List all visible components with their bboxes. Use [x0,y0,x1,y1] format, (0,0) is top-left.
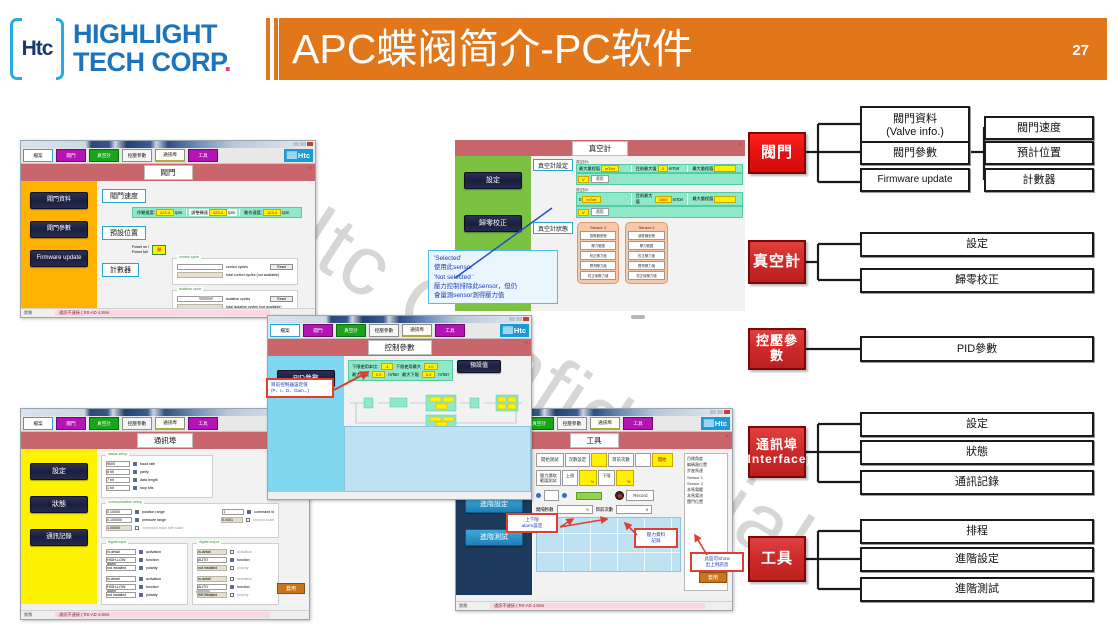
minimize-icon[interactable] [710,410,716,414]
control-cycle-legend: control cycle [177,255,201,259]
minimize-icon[interactable] [293,142,299,146]
speed-field-2: 調整轉速123.4rpm [189,209,237,216]
sensor-1-row-1: 壓力範圍 [580,241,616,250]
tool-header-label: 工具 [570,433,619,448]
control-cycle-label: control cycles [226,265,248,269]
pid-callout-arrow [330,368,380,398]
comm-row: 1 bitstop bits [106,485,208,491]
tree-child-tool-advanced-test[interactable]: 進階測試 [860,577,1094,602]
tree-root-interface-sublabel: (Interface) [743,453,812,467]
comm-row: 9600baud rate [106,461,208,467]
speed-value-2[interactable]: 123.4 [209,209,227,216]
slide-header: Htc HIGHLIGHT TECH CORP. APC蝶阀简介-PC软件 27 [0,0,1117,98]
tool-control-row: Record [536,490,681,501]
panel-close-icon[interactable]: ✕ [309,165,312,170]
gauge1-field-1: 最大量程值mTorr [577,165,629,172]
toolbar-item-tool[interactable]: 工具 [435,324,465,337]
di-activation-1-label: activation [146,550,161,554]
do-activation-2-label: activation [237,577,252,581]
record-label[interactable]: Record [626,490,654,501]
status-label: 狀態 [21,612,55,618]
di-activation-2-label: activation [146,577,161,581]
di-polarity-1[interactable]: not installed [106,565,136,571]
scroll-handle[interactable] [196,590,210,594]
control-cycle-input[interactable] [177,264,223,270]
do-polarity-2-label: polarity [237,593,249,597]
communication-setup-fieldset: communication setup 0.10000position rang… [101,503,279,538]
count-setting-label: 次數設定 [565,453,591,467]
counter-group-label: 計數器 [102,263,139,277]
gauge-setting-button[interactable]: 設定 [464,172,522,189]
comm-apply-button[interactable]: 套用 [277,583,305,594]
do-activation-2-checkbox[interactable] [230,577,234,581]
window-titlebar[interactable] [268,316,531,323]
total-control-cycle-label: total control cycles (not available) [226,273,279,277]
tool-callout-arrows [485,505,755,590]
brand-badge: Htc [500,324,529,337]
second-scale-input: 0.0001 [221,517,243,523]
divider [239,209,240,216]
sensor-2-row-2: 校正壓力值 [628,251,664,260]
pid-field-value-1[interactable]: -1 [381,363,393,370]
toolbar-item-gauge[interactable]: 真空計 [89,417,119,430]
parity-label: parity [140,470,149,474]
di-function-1-checkbox[interactable] [139,558,143,562]
tree-root-tool[interactable]: 工具 [748,536,806,582]
di-row: not installedpolarity [106,565,183,571]
brand-badge: Htc [284,149,313,162]
baud-scale-input: 1.00000 [106,525,132,531]
valve-speed-row: 作動速度:123.4rpm 調整轉速123.4rpm 動作速度:123.4rpm [132,207,302,218]
power-default-label: Power on / Power fail [132,245,149,254]
tree-root-interface[interactable]: 通訊埠 (Interface) [748,426,806,478]
toolbar-item-pid[interactable]: 控壓參數 [557,417,587,430]
pid-chart-area [344,426,531,492]
do-function-1-checkbox[interactable] [230,558,234,562]
di-row: not installedpolarity [106,592,183,598]
stop-bits-input[interactable]: 1 bit [106,485,130,491]
scroll-handle[interactable] [199,296,213,300]
speed-field-1: 作動速度:123.4rpm [135,209,184,216]
do-polarity-1-checkbox[interactable] [230,566,234,570]
digital-io-row: digital input in-detailactivation HIGH-L… [101,538,305,605]
tool-test-row-1: 開始測試 次數設定 目前次數 開始 [536,453,681,467]
baud-scale-label: command baud rate scale [142,526,183,530]
sensor-2-card: Sensor 2 感應器型號 壓力範圍 校正壓力值 實測壓力值 校正後壓力值 [625,222,667,284]
status-value: 通訊不連接 ( RS-AD 4.8ms [490,603,705,609]
title-rule-bars [265,18,279,80]
upper-limit-input[interactable]: % [579,470,597,486]
gauge2-fields: 0mTorr 目前最大值1000mTorr 最大量程值 [576,192,743,206]
baud-rate-input[interactable]: 9600 [106,461,130,467]
di-polarity-2[interactable]: not installed [106,592,136,598]
do-activation-2: in-detail [197,576,227,582]
toolbar-item-comm[interactable]: 通訊埠 [590,417,620,430]
comm-header-label: 通訊埠 [137,433,194,448]
window-body: 閥門資料 閥門參數 Firmware update 閥門速度 作動速度:123.… [21,181,315,310]
comm-row: 0.10000position range1command id [106,509,274,515]
comm-status-button[interactable]: 狀態 [30,496,88,513]
pid-header-label: 控制參數 [368,340,432,355]
window-controls[interactable] [509,317,529,321]
pid-setpoint-callout: 目前控制器設定值 (P、I、D、Gain...) [266,378,334,398]
power-default-value[interactable]: 開 [152,245,166,255]
tree-child-interface-log[interactable]: 通訊記錄 [860,470,1094,495]
window-statusbar: 狀態 通訊不連接 ( RS-AD 4.8ms [456,601,732,610]
valve-info-button[interactable]: 閥門資料 [30,192,88,209]
maximize-icon[interactable] [717,410,723,414]
digital-input-fieldset: digital input in-detailactivation HIGH-L… [101,543,188,605]
toolbar-item-valve[interactable]: 閥門 [303,324,333,337]
baud-scale-checkbox[interactable] [135,526,139,530]
speed-field-3: 動作速度:123.4rpm [242,209,291,216]
comm-setting-button[interactable]: 設定 [30,463,88,480]
do-function-2-checkbox[interactable] [230,585,234,589]
panel-close-icon[interactable]: ✕ [739,141,742,146]
pid-field-value-2[interactable]: 1.0 [424,363,438,370]
comm-row: 8 bitparity [106,469,208,475]
company-name-line2: TECH CORP. [73,49,231,77]
toolbar-item-file[interactable]: 檔案 [270,324,300,337]
gauge-setting-group-label: 真空計設定 [533,159,573,171]
window-header-label: 閥門 [144,165,193,180]
digital-output-fieldset: digital output in-detailactivation AUTOf… [192,543,279,605]
do-polarity-1: not installed [197,565,227,571]
divider [631,165,632,172]
gauge2-value-2[interactable]: 1000 [655,196,672,203]
gauge2-apply-label[interactable]: 適用 [591,208,609,216]
di-function-1-label: function [146,558,159,562]
do-row: in-detailactivation [197,549,274,555]
window-titlebar[interactable] [21,409,309,416]
toolbar-item-pid[interactable]: 控壓參數 [122,417,152,430]
close-icon[interactable] [307,142,313,146]
parity-checkbox[interactable] [133,470,137,474]
tree-grandchild-target-position[interactable]: 預計位置 [984,141,1094,165]
comm-row: 1.00000command baud rate scale [106,525,274,531]
window-titlebar[interactable] [21,141,315,148]
do-polarity-1-label: polarity [237,566,249,570]
toolbar-item-gauge[interactable]: 真空計 [336,324,366,337]
di-polarity-1-label: polarity [146,566,158,570]
window-controls[interactable] [710,410,730,414]
di-activation-1[interactable]: in-detail [106,549,136,555]
tree-child-tool-advanced-setting[interactable]: 進階設定 [860,547,1094,572]
page-title: APC蝶阀简介-PC软件 [292,19,693,79]
maximize-icon[interactable] [516,317,522,321]
gauge1-field-3: 最大量程值 [690,165,742,172]
logo-dot: . [224,47,231,77]
upper-limit-label: 上限 [562,470,578,486]
toolbar-item-file[interactable]: 檔案 [23,417,53,430]
comm-row: 0.100000pressure range0.0001second scale [106,517,274,523]
tree-root-interface-label: 通訊埠 [756,438,798,453]
gauge1-value-2[interactable]: 0 [658,165,668,172]
toolbar-item-tool[interactable]: 工具 [188,417,218,430]
tree-child-firmware-update[interactable]: Firmware update [860,168,970,192]
gauge2-value-3[interactable] [714,196,736,203]
toolbar-item-valve[interactable]: 閥門 [56,149,86,162]
stop-bits-checkbox[interactable] [133,486,137,490]
sensor-1-card: Sensor 1 感應器型號 壓力範圍 校正壓力值 實測壓力值 校正後壓力值 [577,222,619,284]
status-value: 通訊不連接 ( RS-AD 4.8ms [55,612,270,618]
htc-logo-text: Htc [22,37,53,61]
current-count-label: 目前次數 [608,453,634,467]
pressure-range-label: pressure range [142,518,166,522]
toolbar-item-comm[interactable]: 通訊埠 [402,324,432,337]
di-row: HIGH-LOW alarmfunction [106,557,183,563]
isolation-cycle-reset-button[interactable]: Reset [270,296,293,302]
command-id-checkbox[interactable] [247,510,251,514]
limit-setting-button[interactable] [544,490,559,501]
gauge1-fields: 最大量程值mTorr 目前最大值0mTorr 最大量程值 [576,164,743,173]
do-activation-1-label: activation [237,550,252,554]
digital-output-legend: digital output [197,540,221,544]
start-button[interactable]: 開始 [652,453,673,467]
total-control-cycle-value [177,272,223,278]
sensor-1-row-0: 感應器型號 [580,231,616,240]
sensor-2-title: Sensor 2 [628,225,664,230]
sensor-2-row-3: 實測壓力值 [628,261,664,270]
menu-toolbar[interactable]: 檔案 閥門 真空計 控壓參數 通訊埠 工具 Htc [21,148,315,164]
do-row: AUTOfunction [197,557,274,563]
count-setting-input[interactable] [591,453,607,467]
tree-child-interface-setting[interactable]: 設定 [860,412,1094,437]
control-cycle-reset-button[interactable]: Reset [270,264,293,270]
status-value: 通訊不連接 ( RS-AD 4.8ms [55,310,270,316]
toolbar-item-valve[interactable]: 閥門 [56,417,86,430]
close-icon[interactable] [523,317,529,321]
gauge-header-label: 真空計 [572,141,629,156]
menu-toolbar[interactable]: 檔案 閥門 真空計 控壓參數 通訊埠 工具 Htc [21,416,309,432]
di-function-2-label: function [146,585,159,589]
baud-rate-checkbox[interactable] [133,462,137,466]
comm-row: 7 bitdata length [106,477,208,483]
tool-test-row-2: 壓力讀取 範圍測試 上限 % 下限 % [536,470,681,486]
data-length-checkbox[interactable] [133,478,137,482]
window-header: 通訊埠 ✕ [21,432,309,449]
isolation-cycle-legend: isolation cycle [177,287,203,291]
communication-setup-legend: communication setup [106,500,144,504]
gauge1-apply-row: V 適用 [576,173,743,185]
command-id-input[interactable]: 1 [222,509,244,515]
data-length-label: data length [140,478,158,482]
brand-badge: Htc [701,417,730,430]
window-statusbar: 狀態 通訊不連接 ( RS-AD 4.8ms [21,610,309,619]
sensor-1-row-4: 校正後壓力值 [580,271,616,280]
maximize-icon[interactable] [300,142,306,146]
parity-input[interactable]: 8 bit [106,469,130,475]
pid-callout-text: 目前控制器設定值 (P、I、D、Gain...) [271,382,309,393]
gauge-callout-leader [440,200,570,290]
gauge2-field-3: 最大量程值 [690,196,742,203]
gauge1-unit-1[interactable]: mTorr [601,165,619,172]
stop-bits-label: stop bits [140,486,153,490]
gauge1-value-3[interactable] [714,165,736,172]
status-bar-indicator [576,492,602,500]
tree-root-valve[interactable]: 閥門 [748,132,806,174]
lower-limit-input[interactable]: % [616,470,634,486]
pid-default-button[interactable]: 預設值 [457,360,501,373]
comm-log-button[interactable]: 通訊記錄 [30,529,88,546]
divider [687,165,688,172]
do-activation-1-checkbox[interactable] [230,550,234,554]
gauge1-field-2: 目前最大值0mTorr [634,165,686,172]
command-id-label: command id [254,510,274,514]
di-row: HIGH-LOW alarmfunction [106,584,183,590]
toolbar-item-pid[interactable]: 控壓參數 [369,324,399,337]
di-function-2[interactable]: HIGH-LOW alarm [106,584,136,590]
do-row: in-detailactivation [197,576,274,582]
tree-child-valve-params[interactable]: 閥門參數 [860,141,970,165]
comm-side-panel: 設定 狀態 通訊記錄 [21,449,97,604]
pressure-range-checkbox[interactable] [135,518,139,522]
gauge-setting-blocks: 真空計1: 最大量程值mTorr 目前最大值0mTorr 最大量程值 V 適用 [576,159,743,218]
gauge2-field-2: 目前最大值1000mTorr [634,193,686,205]
window-controls[interactable] [293,142,313,146]
menu-toolbar[interactable]: 檔案 閥門 真空計 控壓參數 通訊埠 工具 Htc [268,323,531,339]
feature-tree-diagram: 閥門 閥門資料 (Valve info.) 閥門參數 Firmware upda… [748,104,1110,624]
gauge1-apply-label[interactable]: 適用 [591,175,609,183]
status-label: 狀態 [21,310,55,316]
company-name-line1: HIGHLIGHT [73,21,231,49]
company-logo: Htc HIGHLIGHT TECH CORP. [10,18,231,80]
di-polarity-2-checkbox[interactable] [139,593,143,597]
digital-input-legend: digital input [106,540,128,544]
valve-speed-group-label: 閥門速度 [102,189,146,203]
status-setup-legend: status setup [106,452,129,456]
pid-body: PID參數 下限使用本比: -1 下限使用最大 1.0 最大上限 0.0 [268,356,531,492]
slide-canvas: Htc HIGHLIGHT TECH CORP. APC蝶阀简介-PC软件 27… [0,0,1117,628]
di-function-1[interactable]: HIGH-LOW alarm [106,557,136,563]
position-range-input[interactable]: 0.10000 [106,509,132,515]
di-function-2-checkbox[interactable] [139,585,143,589]
control-cycle-row-2: total control cycles (not available) [177,272,293,278]
toolbar-item-pid[interactable]: 控壓參數 [122,149,152,162]
tree-grandchild-counter[interactable]: 計數器 [984,168,1094,192]
position-range-checkbox[interactable] [135,510,139,514]
second-scale-label: second scale [253,518,274,522]
tree-child-pid-params[interactable]: PID參數 [860,336,1094,362]
gauge2-unit-1[interactable]: mTorr [582,196,600,203]
record-control[interactable]: Record [615,490,654,501]
toolbar-item-gauge[interactable]: 真空計 [89,149,119,162]
di-activation-2-checkbox[interactable] [139,577,143,581]
position-range-label: position range [142,510,165,514]
data-length-input[interactable]: 7 bit [106,477,130,483]
divider [631,193,632,205]
sensor-2-row-0: 感應器型號 [628,231,664,240]
page-number: 27 [1072,42,1089,59]
gauge2-apply-row: V 適用 [576,206,743,218]
toolbar-item-file[interactable]: 檔案 [23,149,53,162]
start-test-label[interactable]: 開始測試 [536,453,564,467]
tree-grandchild-valve-speed[interactable]: 閥門速度 [984,116,1094,140]
pressure-range-input[interactable]: 0.100000 [106,517,132,523]
tree-child-gauge-setting[interactable]: 設定 [860,232,1094,257]
comm-body: 設定 狀態 通訊記錄 status setup 9600baud rate 8 … [21,449,309,604]
status-label: 狀態 [456,603,490,609]
toolbar-item-comm[interactable]: 通訊埠 [155,417,185,430]
tree-root-gauge[interactable]: 真空計 [748,240,806,284]
di-row: in-detailactivation [106,576,183,582]
di-activation-2[interactable]: in-detail [106,576,136,582]
di-row: in-detailactivation [106,549,183,555]
do-function-2-label: function [237,585,250,589]
toolbar-item-tool[interactable]: 工具 [188,149,218,162]
di-activation-1-checkbox[interactable] [139,550,143,554]
do-function-1-label: function [237,558,250,562]
gauge1-apply-flag[interactable]: V [578,176,589,183]
divider [687,193,688,205]
sensor-1-row-2: 校正壓力值 [580,251,616,260]
led-indicator-right [562,493,567,498]
toolbar-item-tool[interactable]: 工具 [623,417,653,430]
valve-content: 閥門速度 作動速度:123.4rpm 調整轉速123.4rpm 動作速度:123… [97,181,315,310]
di-polarity-1-checkbox[interactable] [139,566,143,570]
speed-value-1[interactable]: 123.4 [156,209,174,216]
window-header: 控制參數 ✕ [268,339,531,356]
tree-child-interface-status[interactable]: 狀態 [860,440,1094,465]
record-icon[interactable] [615,491,624,500]
sensor-2-row-1: 壓力範圍 [628,241,664,250]
speed-value-3[interactable]: 123.4 [263,209,281,216]
pressure-range-test-label: 壓力讀取 範圍測試 [536,470,561,486]
close-icon[interactable] [724,410,730,414]
window-header: 閥門 ✕ [21,164,315,181]
baud-rate-label: baud rate [140,462,155,466]
minimize-icon[interactable] [509,317,515,321]
do-polarity-2-checkbox[interactable] [230,593,234,597]
status-setup-fieldset: status setup 9600baud rate 8 bitparity 7… [101,455,213,498]
pid-field-value-4[interactable]: 0.0 [422,371,436,378]
panel-close-icon[interactable]: ✕ [525,340,528,345]
divider [186,209,187,216]
do-activation-1: in-detail [197,549,227,555]
do-function-1[interactable]: AUTO [197,557,227,563]
control-cycle-row-1: control cycles Reset [177,264,293,270]
pid-window[interactable]: 檔案 閥門 真空計 控壓參數 通訊埠 工具 Htc 控制參數 ✕ PID參數 下… [267,315,532,500]
panel-close-icon[interactable]: ✕ [726,433,729,438]
scroll-handle[interactable] [631,315,645,319]
tree-root-pid[interactable]: 控壓參數 [748,328,806,370]
sensor-1-title: Sensor 1 [580,225,616,230]
control-cycle-fieldset: control cycle control cycles Reset total… [172,258,298,285]
sensor-2-row-4: 校正後壓力值 [628,271,664,280]
valve-window[interactable]: 檔案 閥門 真空計 控壓參數 通訊埠 工具 Htc 閥門 ✕ 閥門資料 閥門參數… [20,140,316,318]
tree-child-tool-schedule[interactable]: 排程 [860,519,1094,544]
gauge-window-header: 真空計 ✕ [455,140,745,156]
default-position-group-label: 預設位置 [102,226,146,240]
led-indicator-left [536,493,541,498]
htc-logo-mark: Htc [10,18,64,80]
isolation-cycle-row-1: isolation cycles Reset [177,296,293,302]
second-scale-checkbox[interactable] [246,518,250,522]
current-count-value [635,453,651,467]
company-name: HIGHLIGHT TECH CORP. [73,21,231,76]
tree-child-valve-info[interactable]: 閥門資料 (Valve info.) [860,106,970,145]
do-row: not installedpolarity [197,565,274,571]
toolbar-item-comm[interactable]: 通訊埠 [155,149,185,162]
firmware-update-button[interactable]: Firmware update [30,250,88,267]
sensor-cards: Sensor 1 感應器型號 壓力範圍 校正壓力值 實測壓力值 校正後壓力值 S… [577,222,668,284]
isolation-cycle-label: isolation cycles [226,297,250,301]
gauge2-apply-flag[interactable]: V [578,209,589,216]
tree-child-gauge-zero-calibration[interactable]: 歸零校正 [860,268,1094,293]
valve-side-panel: 閥門資料 閥門參數 Firmware update [21,181,97,310]
valve-params-button[interactable]: 閥門參數 [30,221,88,238]
gauge2-field-1: 0mTorr [577,196,629,203]
